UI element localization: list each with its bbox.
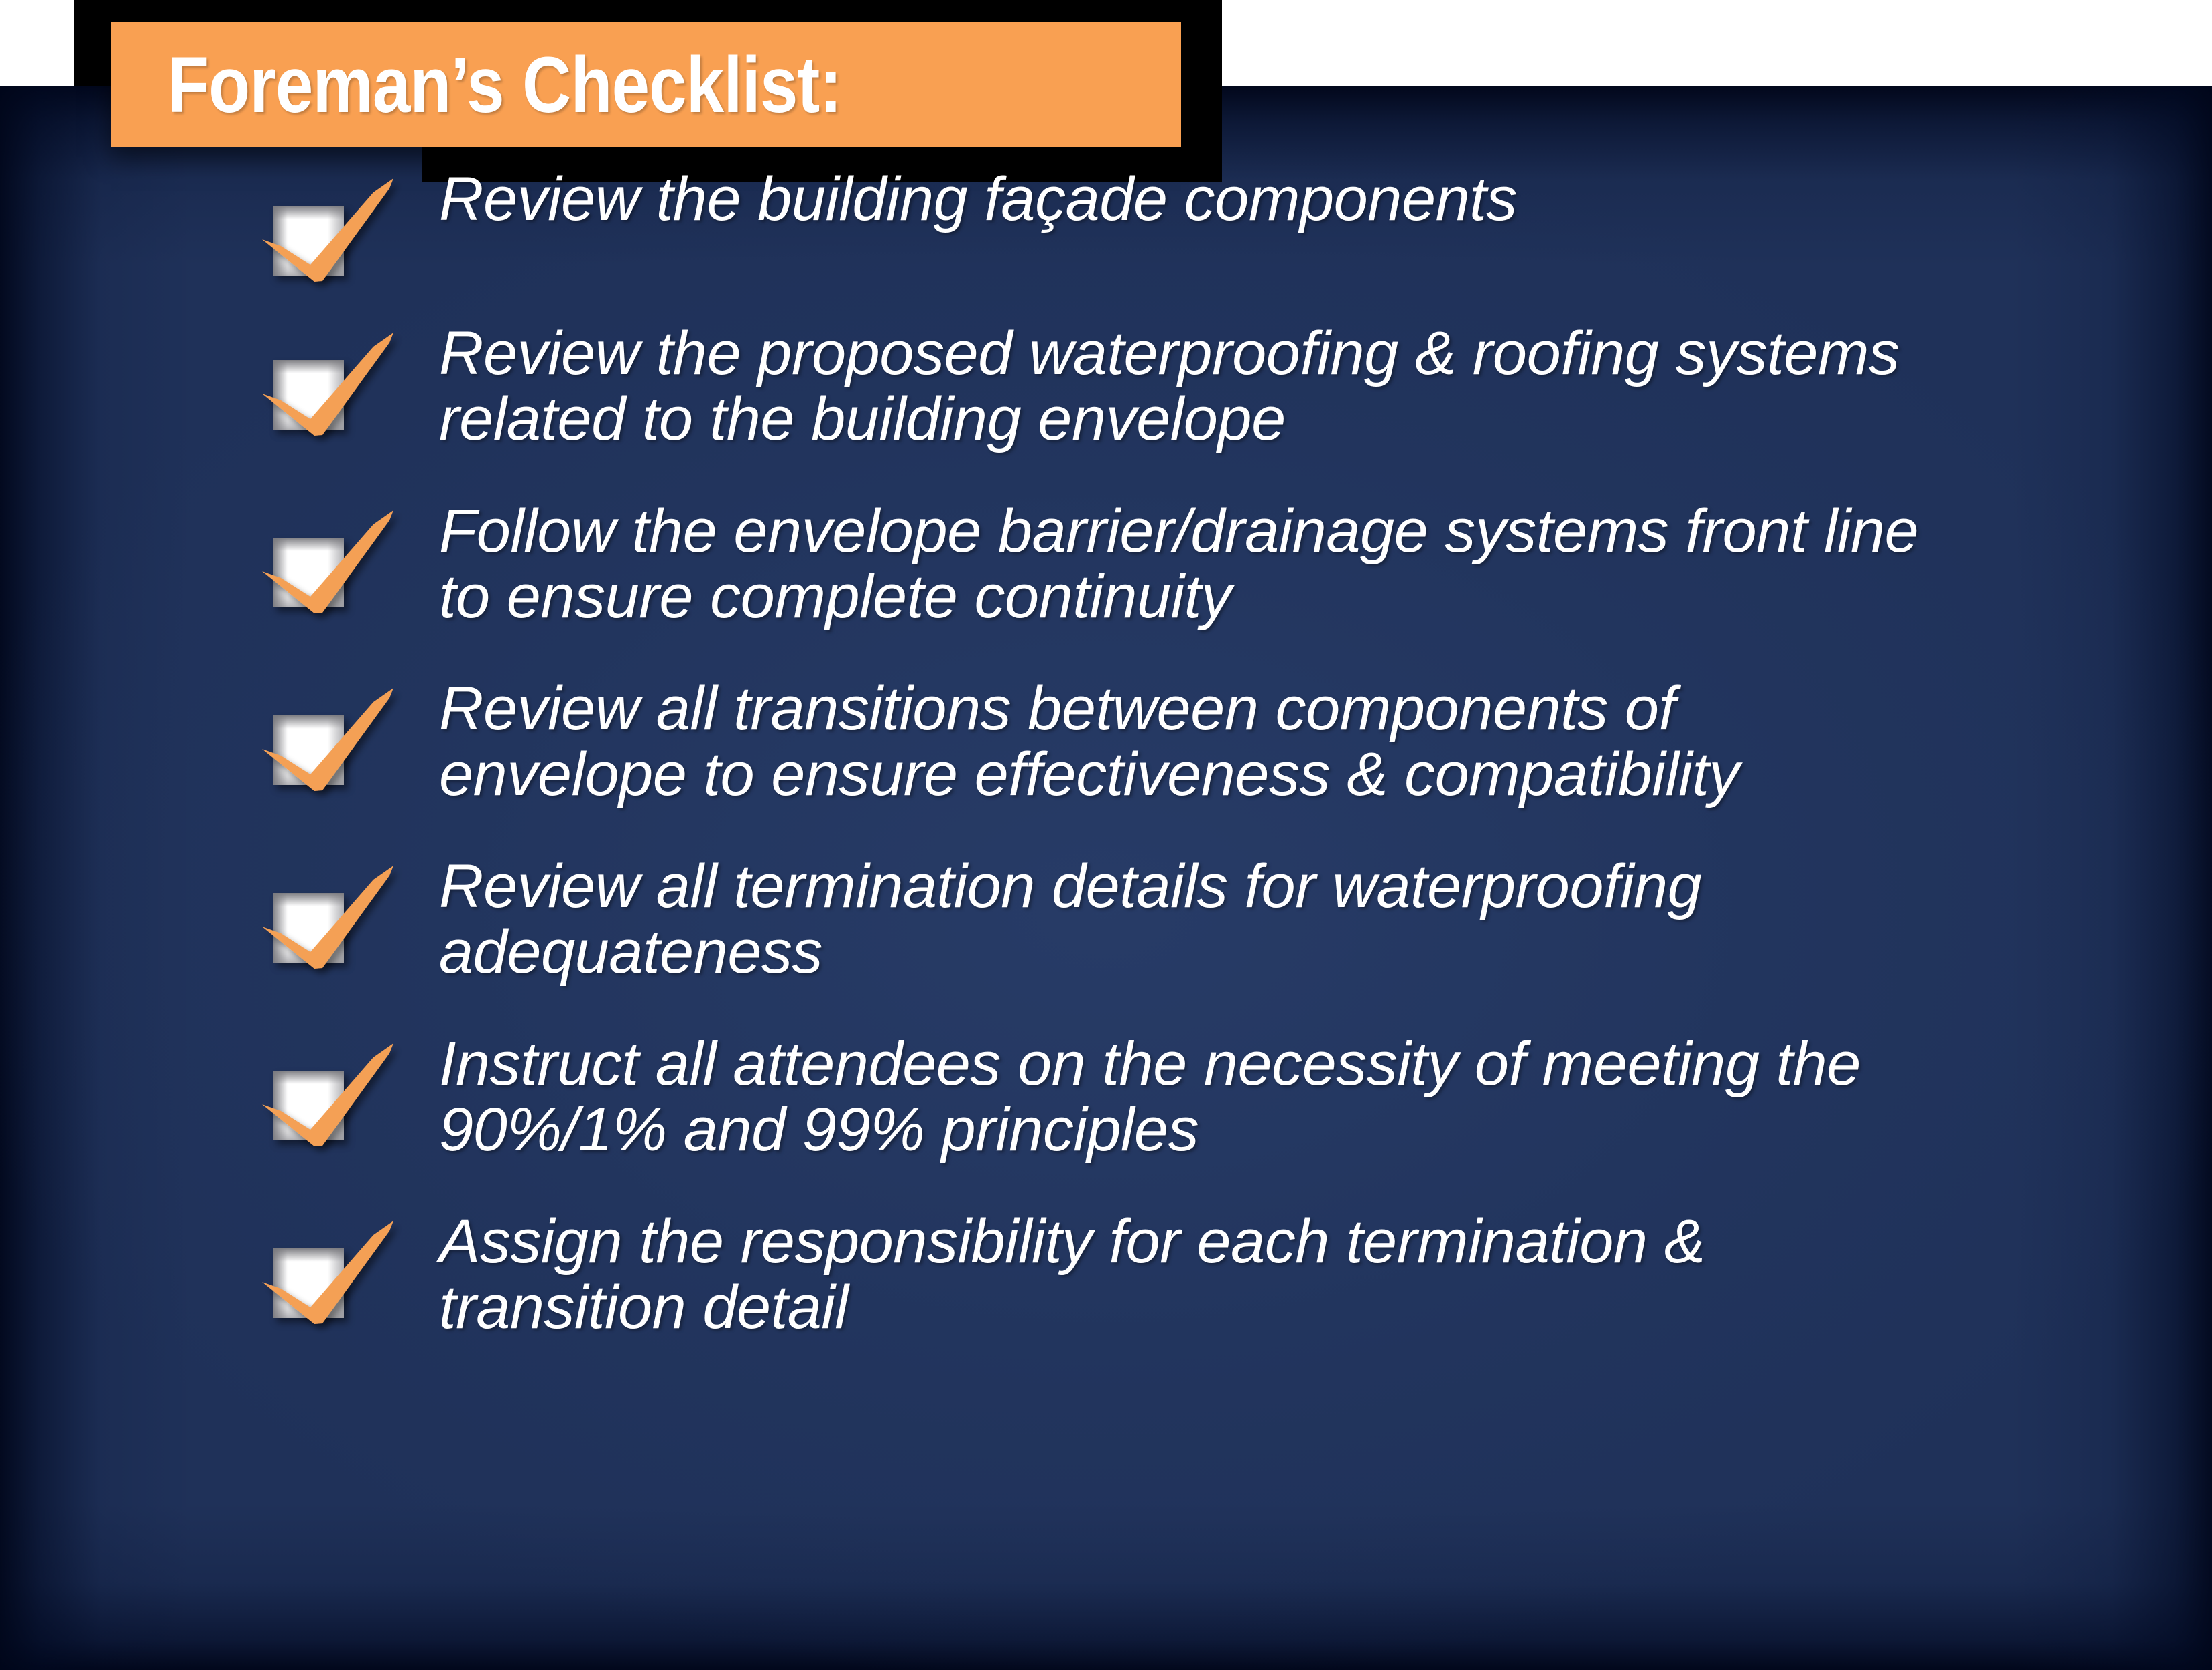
checklist-item[interactable]: Follow the envelope barrier/drainage sys… xyxy=(0,496,2212,630)
orange-checkmark-icon xyxy=(258,505,426,616)
checkbox-7[interactable] xyxy=(258,1216,426,1317)
checklist-item-label: Review the proposed waterproofing & roof… xyxy=(439,321,2212,452)
orange-checkmark-icon xyxy=(258,683,426,794)
orange-checkmark-icon xyxy=(258,861,426,971)
orange-checkmark-icon xyxy=(258,1038,426,1149)
checklist-item[interactable]: Review all termination details for water… xyxy=(0,851,2212,985)
checkbox-2[interactable] xyxy=(258,328,426,428)
orange-checkmark-icon xyxy=(258,174,426,284)
orange-checkmark-icon xyxy=(258,328,426,438)
checklist-item[interactable]: Assign the responsibility for each termi… xyxy=(0,1207,2212,1340)
checklist-item-label: Review all termination details for water… xyxy=(439,854,2212,985)
checklist-item-label: Assign the responsibility for each termi… xyxy=(439,1209,2212,1340)
checklist-item-label: Follow the envelope barrier/drainage sys… xyxy=(439,499,2212,630)
slide-canvas: Foreman’s Checklist: Review the building… xyxy=(0,0,2212,1670)
checkbox-6[interactable] xyxy=(258,1038,426,1139)
checklist-item[interactable]: Review the proposed waterproofing & roof… xyxy=(0,318,2212,452)
checkbox-3[interactable] xyxy=(258,505,426,606)
checklist-item-label: Review all transitions between component… xyxy=(439,676,2212,807)
title-banner: Foreman’s Checklist: xyxy=(111,22,1181,147)
checklist-item[interactable]: Review the building façade components xyxy=(0,164,2212,274)
checklist-item-label: Review the building façade components xyxy=(439,167,2212,233)
checkbox-1[interactable] xyxy=(258,174,426,274)
orange-checkmark-icon xyxy=(258,1216,426,1327)
checklist-item[interactable]: Review all transitions between component… xyxy=(0,674,2212,807)
checkbox-4[interactable] xyxy=(258,683,426,784)
checklist-item[interactable]: Instruct all attendees on the necessity … xyxy=(0,1029,2212,1162)
page-title: Foreman’s Checklist: xyxy=(168,46,841,125)
checkbox-5[interactable] xyxy=(258,861,426,961)
checklist-item-label: Instruct all attendees on the necessity … xyxy=(439,1032,2212,1162)
checklist: Review the building façade components Re… xyxy=(0,164,2212,1384)
